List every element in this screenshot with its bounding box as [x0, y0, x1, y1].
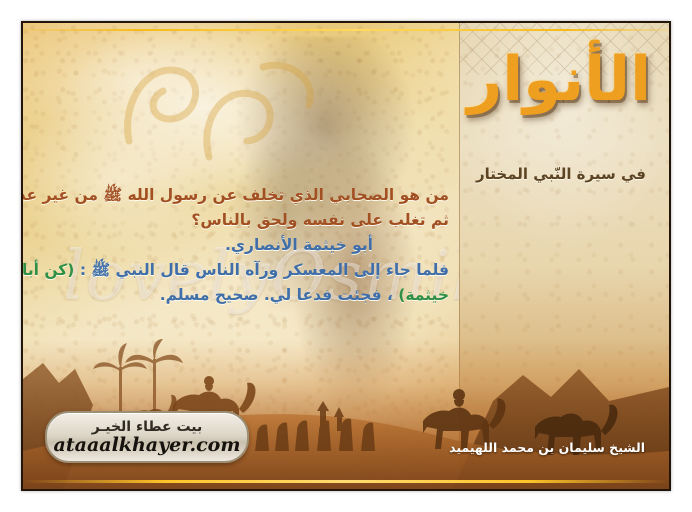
- hadith-line-1-narration: فلما جاء إلى المعسكر ورآه الناس قال النب…: [80, 261, 449, 279]
- site-badge[interactable]: بيت عطاء الخيـر ataaalkhayer.com: [45, 411, 249, 463]
- question-line-1: من هو الصحابي الذي تخلف عن رسول الله ﷺ م…: [37, 183, 449, 208]
- poster-frame: lovelyOsmile.com من هو الصحابي الذي تخلف…: [21, 21, 671, 491]
- palm-trees: [93, 339, 183, 415]
- hadith-line-1: فلما جاء إلى المعسكر ورآه الناس قال النب…: [37, 258, 449, 283]
- question-answer-text-block: من هو الصحابي الذي تخلف عن رسول الله ﷺ م…: [37, 183, 449, 308]
- bottom-gold-rule: [23, 480, 669, 483]
- question-line-2: ثم تغلب على نفسه ولحق بالناس؟: [37, 208, 449, 233]
- hadith-line-2-quote: خيثمة): [398, 286, 449, 304]
- author-credit: الشيخ سليمان بن محمد اللهيميد: [449, 440, 645, 455]
- top-gold-rule: [23, 29, 669, 31]
- hadith-line-2-source: ، فجئت فدعا لي. صحيح مسلم.: [160, 286, 399, 304]
- site-badge-arabic: بيت عطاء الخيـر: [92, 419, 203, 435]
- hadith-line-1-quote: (كن أبا: [22, 261, 74, 279]
- book-title: الأنوار: [471, 47, 651, 113]
- poster-image: lovelyOsmile.com من هو الصحابي الذي تخلف…: [0, 0, 692, 512]
- hadith-line-2: خيثمة) ، فجئت فدعا لي. صحيح مسلم.: [37, 283, 449, 308]
- site-badge-url: ataaalkhayer.com: [54, 435, 241, 456]
- answer-line: أبو خيثمة الأنصاري.: [37, 233, 449, 258]
- book-subtitle: في سيرة النّبي المختار: [471, 165, 651, 183]
